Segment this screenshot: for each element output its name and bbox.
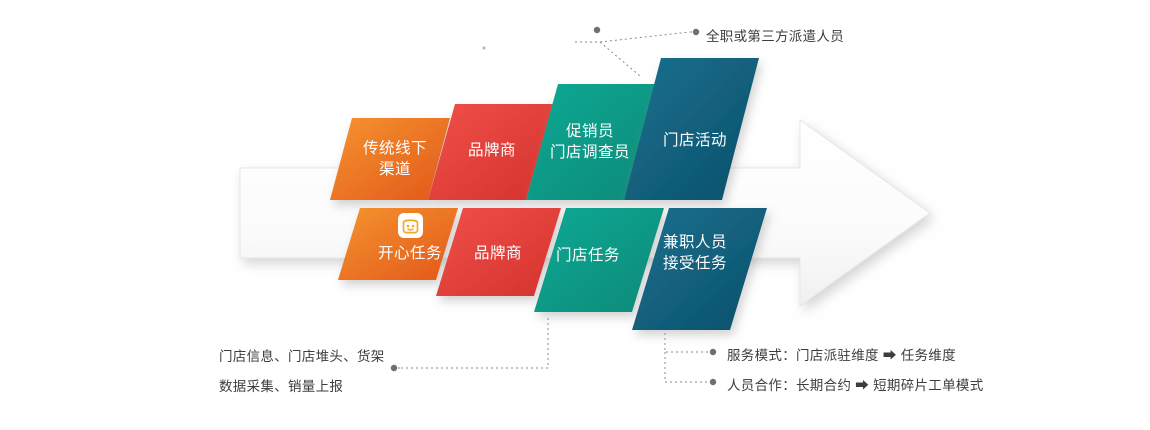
label-happy-task: 开心任务 [365, 243, 455, 264]
label-brand-owner-top: 品牌商 [452, 140, 532, 161]
label-line: 接受任务 [645, 253, 745, 274]
label-store-task: 门店任务 [543, 245, 633, 266]
label-line: 品牌商 [458, 243, 538, 264]
label-part-time-accept-task: 兼职人员 接受任务 [645, 232, 745, 274]
label-line: 兼职人员 [645, 232, 745, 253]
dot-bottom-right-1 [710, 349, 716, 355]
label-promoter-store-surveyor: 促销员 门店调查员 [540, 121, 640, 163]
label-line: 门店活动 [650, 130, 740, 151]
label-line: 品牌商 [452, 140, 532, 161]
annotation-bottom-left-line1: 门店信息、门店堆头、货架 [219, 345, 385, 365]
label-line: 开心任务 [365, 243, 455, 264]
diagram-canvas: 传统线下 渠道 品牌商 促销员 门店调查员 门店活动 开心任务 品牌商 门店任务… [0, 0, 1150, 430]
dot-bottom-right-2 [710, 379, 716, 385]
label-line: 传统线下 [355, 138, 435, 159]
label-store-activity: 门店活动 [650, 130, 740, 151]
label-line: 门店调查员 [540, 142, 640, 163]
dot-bottom-left [391, 365, 397, 371]
smiley-icon [398, 213, 423, 238]
dot-top-anchor [594, 27, 600, 33]
label-line: 渠道 [355, 159, 435, 180]
dot-stray [482, 46, 485, 49]
dot-top-right [693, 29, 699, 35]
label-brand-owner-bottom: 品牌商 [458, 243, 538, 264]
label-traditional-offline-channel: 传统线下 渠道 [355, 138, 435, 180]
label-line: 门店任务 [543, 245, 633, 266]
annotation-bottom-right-line2: 人员合作：长期合约 ➡ 短期碎片工单模式 [727, 374, 984, 394]
smiley-icon-container [398, 213, 423, 238]
annotation-top-right: 全职或第三方派遣人员 [706, 25, 844, 45]
annotation-bottom-right-line1: 服务模式：门店派驻维度 ➡ 任务维度 [727, 344, 956, 364]
diagram-vector-layer [0, 0, 1150, 430]
annotation-bottom-left-line2: 数据采集、销量上报 [219, 375, 343, 395]
label-line: 促销员 [540, 121, 640, 142]
